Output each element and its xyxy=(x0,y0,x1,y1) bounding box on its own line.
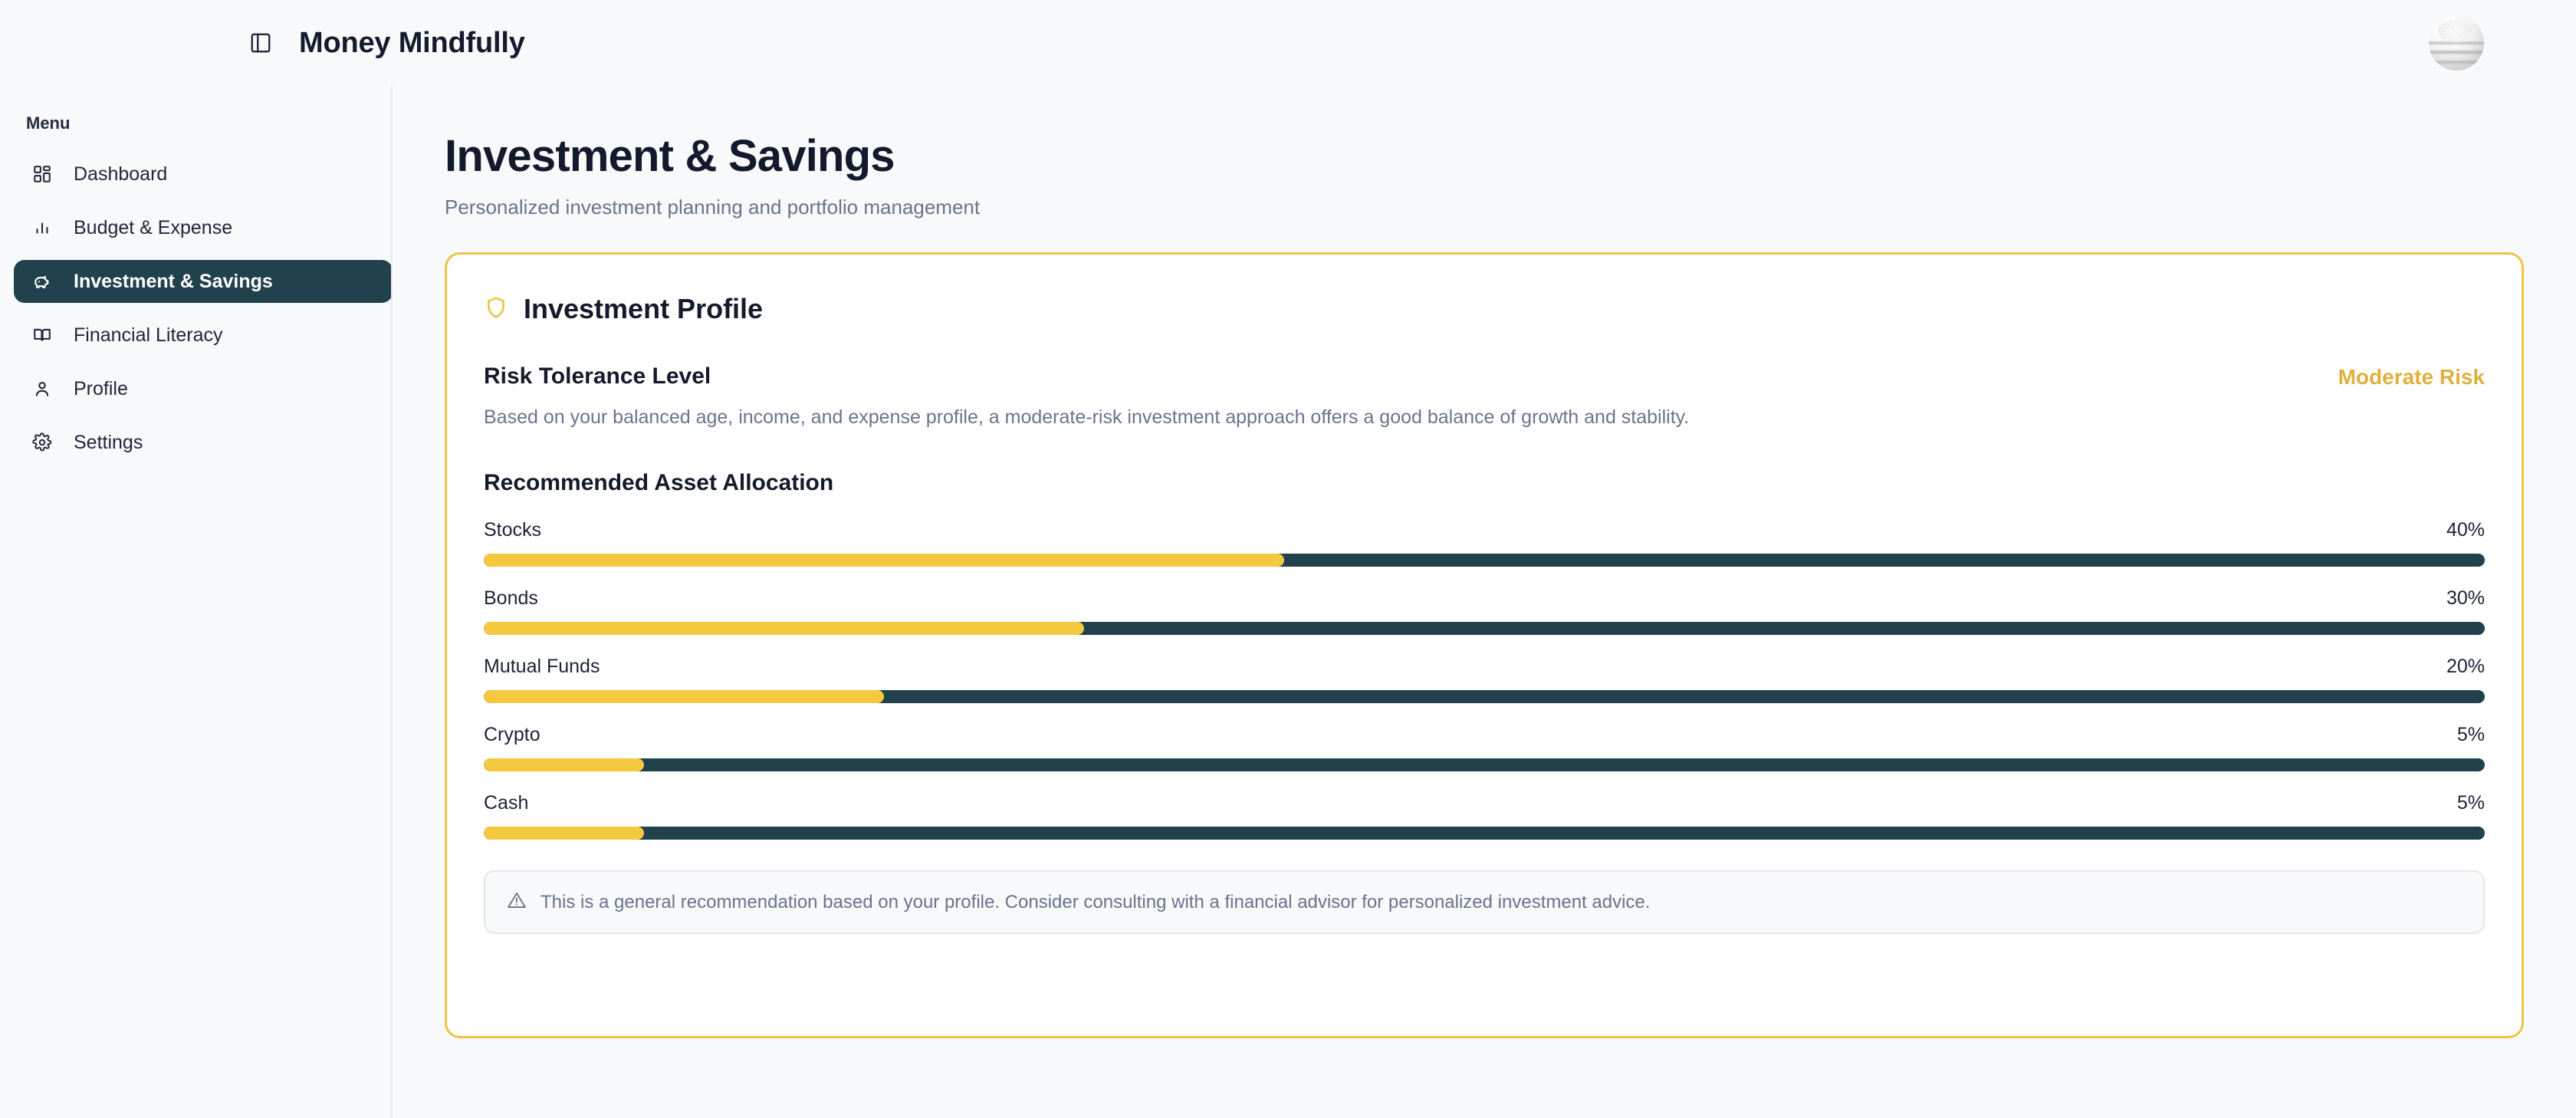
sidebar-item-financial-literacy[interactable]: Financial Literacy xyxy=(14,314,391,357)
allocation-value: 5% xyxy=(2457,792,2485,814)
sidebar-item-label: Profile xyxy=(74,378,128,400)
app-title: Money Mindfully xyxy=(299,27,525,60)
sidebar-item-label: Investment & Savings xyxy=(74,271,273,293)
bar-chart-icon xyxy=(31,216,54,239)
allocation-value: 40% xyxy=(2446,519,2485,541)
card-title: Investment Profile xyxy=(524,293,763,325)
sidebar-item-profile[interactable]: Profile xyxy=(14,367,391,410)
allocation-bars: Stocks 40% Bonds 30% xyxy=(484,519,2485,840)
piggy-bank-icon xyxy=(31,270,54,293)
allocation-row: Cash 5% xyxy=(484,792,2485,840)
allocation-progress-track xyxy=(484,827,2485,840)
allocation-label: Bonds xyxy=(484,587,538,610)
disclaimer-text: This is a general recommendation based o… xyxy=(540,892,1650,913)
sidebar-item-investment-savings[interactable]: Investment & Savings xyxy=(14,260,393,303)
menu-label: Menu xyxy=(0,103,391,147)
allocation-progress-track xyxy=(484,622,2485,635)
allocation-progress-fill xyxy=(484,690,884,703)
allocation-progress-track xyxy=(484,758,2485,771)
main-content: Investment & Savings Personalized invest… xyxy=(393,86,2576,1118)
page-title: Investment & Savings xyxy=(445,130,2524,182)
sidebar: Menu Dashboard xyxy=(0,86,393,1118)
book-open-icon xyxy=(31,324,54,347)
sidebar-item-label: Budget & Expense xyxy=(74,217,232,239)
allocation-value: 5% xyxy=(2457,724,2485,746)
allocation-label: Cash xyxy=(484,792,528,814)
app-root: Money Mindfully Menu Dashboard xyxy=(0,0,2576,1118)
investment-profile-card: Investment Profile Risk Tolerance Level … xyxy=(445,252,2524,1038)
app-body: Menu Dashboard xyxy=(0,86,2576,1118)
sidebar-toggle-icon[interactable] xyxy=(244,26,278,60)
allocation-title: Recommended Asset Allocation xyxy=(484,470,2485,496)
page-subtitle: Personalized investment planning and por… xyxy=(445,196,2524,219)
allocation-label: Mutual Funds xyxy=(484,656,600,678)
allocation-progress-fill xyxy=(484,622,1084,635)
layout-dashboard-icon xyxy=(31,163,54,186)
allocation-row: Mutual Funds 20% xyxy=(484,656,2485,703)
sidebar-item-label: Financial Literacy xyxy=(74,324,223,347)
user-icon xyxy=(31,377,54,400)
card-header: Investment Profile xyxy=(484,285,2485,330)
sidebar-item-settings[interactable]: Settings xyxy=(14,421,391,464)
allocation-progress-fill xyxy=(484,554,1284,567)
disclaimer-note: This is a general recommendation based o… xyxy=(484,870,2485,934)
sidebar-item-label: Settings xyxy=(74,432,143,454)
risk-tolerance-row: Risk Tolerance Level Moderate Risk xyxy=(484,363,2485,390)
avatar[interactable] xyxy=(2429,15,2484,71)
sidebar-nav: Dashboard Budget & Expense xyxy=(0,147,391,469)
warning-triangle-icon xyxy=(507,890,527,914)
allocation-value: 20% xyxy=(2446,656,2485,678)
gear-icon xyxy=(31,431,54,454)
allocation-label: Crypto xyxy=(484,724,540,746)
allocation-label: Stocks xyxy=(484,519,541,541)
allocation-row: Stocks 40% xyxy=(484,519,2485,567)
top-bar: Money Mindfully xyxy=(0,0,2576,86)
allocation-progress-fill xyxy=(484,758,644,771)
allocation-row: Bonds 30% xyxy=(484,587,2485,635)
sidebar-item-dashboard[interactable]: Dashboard xyxy=(14,153,391,196)
shield-icon xyxy=(484,295,508,324)
allocation-progress-track xyxy=(484,554,2485,567)
risk-tolerance-title: Risk Tolerance Level xyxy=(484,363,711,390)
allocation-value: 30% xyxy=(2446,587,2485,610)
risk-level-badge: Moderate Risk xyxy=(2338,363,2485,390)
sidebar-item-label: Dashboard xyxy=(74,163,167,186)
sidebar-item-budget-expense[interactable]: Budget & Expense xyxy=(14,206,391,249)
risk-description: Based on your balanced age, income, and … xyxy=(484,406,2485,429)
allocation-row: Crypto 5% xyxy=(484,724,2485,771)
allocation-progress-track xyxy=(484,690,2485,703)
allocation-progress-fill xyxy=(484,827,644,840)
